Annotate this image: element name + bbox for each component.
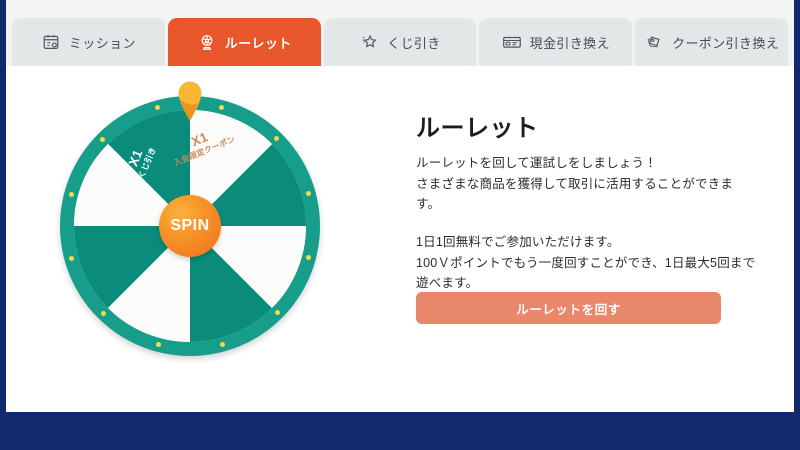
calendar-icon — [41, 32, 61, 52]
roulette-icon — [197, 32, 217, 52]
wheel-stud — [69, 192, 74, 197]
tab-bar: ミッション ルーレット — [6, 0, 794, 66]
info-line-4: 100Ｖポイントでもう一度回すことができ、1日最大5回まで遊べます。 — [416, 253, 756, 294]
tab-lottery-label: くじ引き — [387, 33, 441, 52]
wheel-body[interactable]: 10VポイントハズレX1期間限定クーポンX1期間限定クーポン50Vポイントハズレ… — [60, 96, 320, 356]
tab-strip: ミッション ルーレット — [6, 18, 794, 66]
spin-roulette-button[interactable]: ルーレットを回す — [416, 292, 721, 324]
spin-hub-label: SPIN — [170, 217, 209, 235]
wheel-stud — [275, 310, 280, 315]
coupon-icon — [644, 32, 664, 52]
footer-bar — [0, 412, 800, 450]
content-area: 10VポイントハズレX1期間限定クーポンX1期間限定クーポン50Vポイントハズレ… — [6, 66, 794, 412]
info-line-1: ルーレットを回して運試しをしましょう！ — [416, 153, 756, 174]
tab-roulette-label: ルーレット — [225, 33, 292, 52]
page-container: ミッション ルーレット — [6, 0, 794, 412]
wheel-pointer-icon — [175, 78, 205, 122]
tab-cash-exchange-label: 現金引き換え — [530, 33, 610, 52]
tab-mission-label: ミッション — [69, 33, 136, 52]
wheel-stud — [219, 105, 224, 110]
wheel-stud — [220, 342, 225, 347]
roulette-wheel: 10VポイントハズレX1期間限定クーポンX1期間限定クーポン50Vポイントハズレ… — [52, 74, 342, 394]
info-line-2: さまざまな商品を獲得して取引に活用することができます。 — [416, 174, 756, 215]
tab-coupon-exchange[interactable]: クーポン引き換え — [635, 18, 788, 66]
info-panel: ルーレット ルーレットを回して運試しをしましょう！ さまざまな商品を獲得して取引… — [416, 108, 756, 294]
tab-coupon-exchange-label: クーポン引き換え — [672, 33, 779, 52]
tab-cash-exchange[interactable]: 現金引き換え — [479, 18, 632, 66]
page-title: ルーレット — [416, 108, 756, 143]
right-edge-rail — [794, 0, 800, 412]
star-icon — [359, 32, 379, 52]
wheel-stud — [101, 311, 106, 316]
cash-icon — [502, 32, 522, 52]
spin-hub-button[interactable]: SPIN — [159, 195, 221, 257]
tab-roulette[interactable]: ルーレット — [168, 18, 321, 66]
info-line-3: 1日1回無料でご参加いただけます。 — [416, 232, 756, 253]
tab-lottery[interactable]: くじ引き — [324, 18, 477, 66]
wheel-stud — [69, 256, 74, 261]
tab-mission[interactable]: ミッション — [12, 18, 165, 66]
